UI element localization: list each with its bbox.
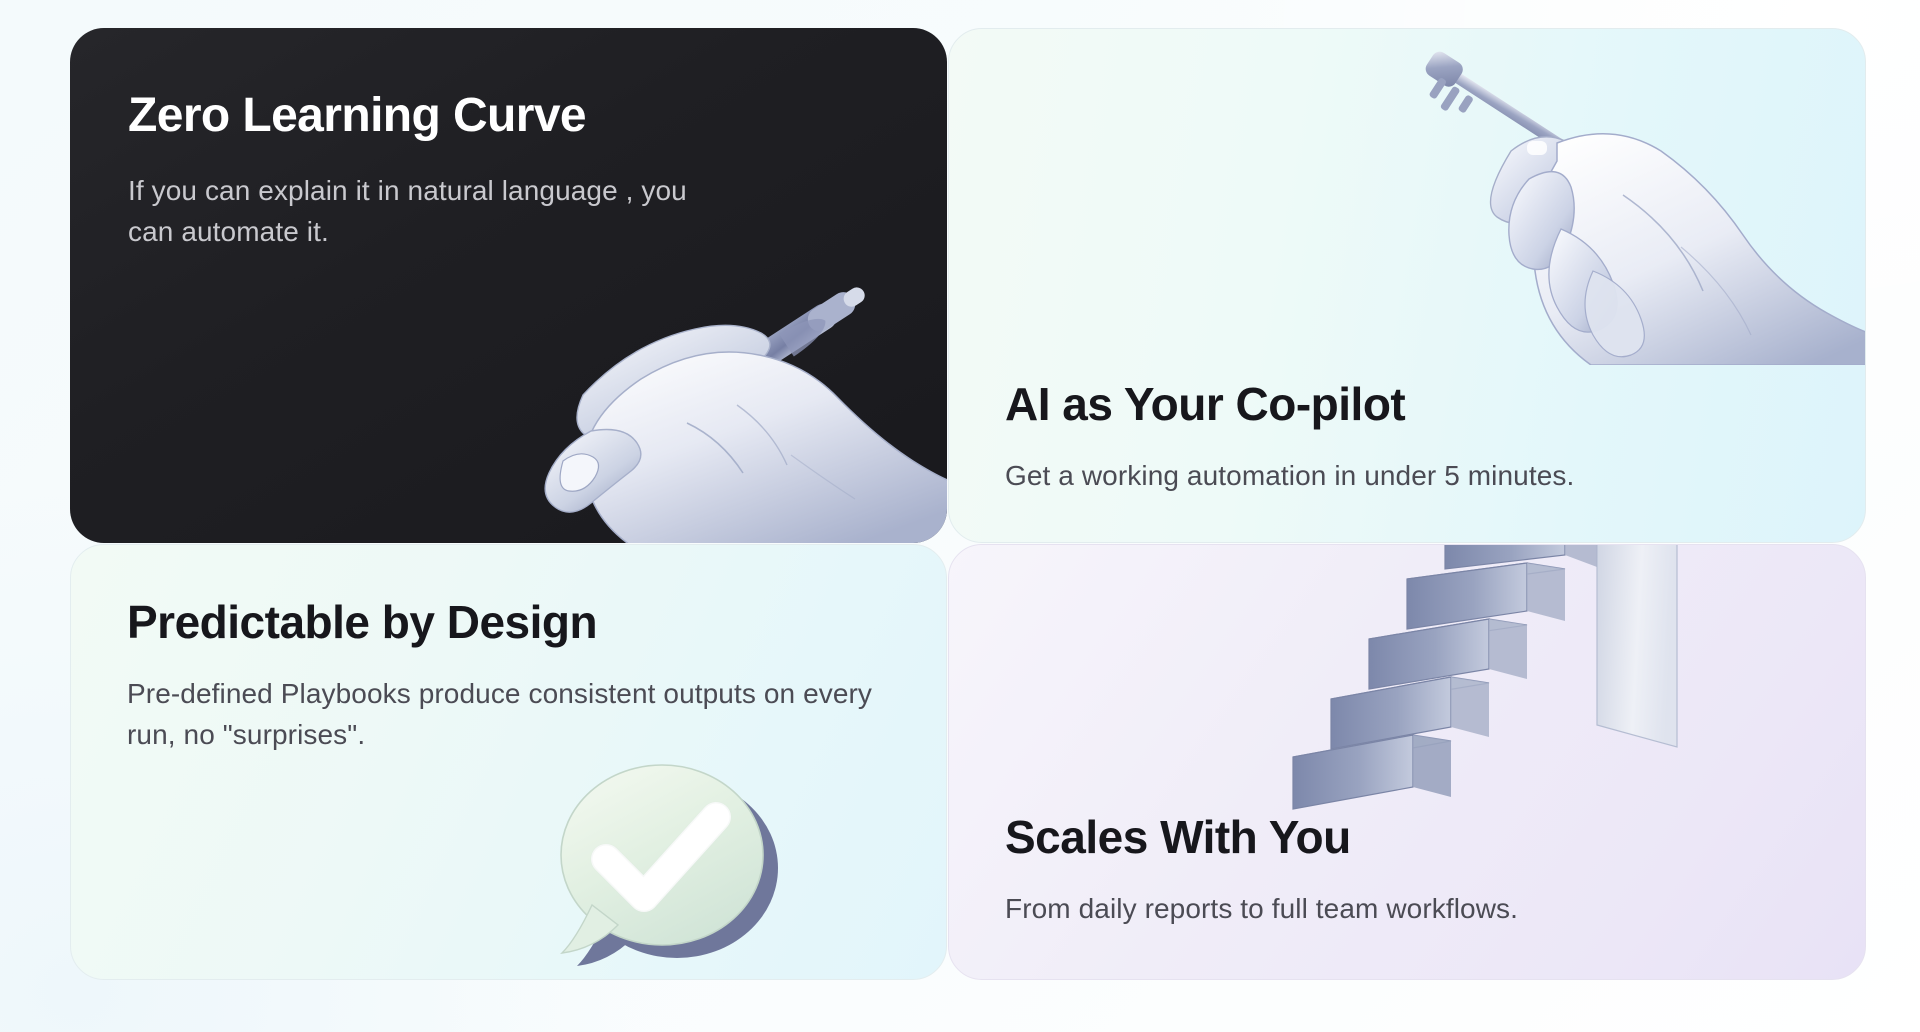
card-description: If you can explain it in natural languag… [128,170,728,253]
card-text-block: AI as Your Co-pilot Get a working automa… [1005,379,1865,496]
card-title: Scales With You [1005,812,1865,864]
card-text-block: Predictable by Design Pre-defined Playbo… [127,597,890,755]
card-description: From daily reports to full team workflow… [1005,888,1865,929]
card-title: Predictable by Design [127,597,890,649]
hand-holding-pen-icon [491,217,947,543]
staircase-icon [1245,544,1765,817]
card-description: Pre-defined Playbooks produce consistent… [127,673,890,756]
feature-card-grid: Zero Learning Curve If you can explain i… [0,0,1920,1032]
feature-card-ai-as-your-co-pilot[interactable]: AI as Your Co-pilot Get a working automa… [948,28,1866,543]
card-description: Get a working automation in under 5 minu… [1005,455,1865,496]
hand-holding-key-icon [1361,45,1866,365]
card-text-block: Scales With You From daily reports to fu… [1005,812,1865,929]
card-title: Zero Learning Curve [128,90,889,143]
feature-card-zero-learning-curve[interactable]: Zero Learning Curve If you can explain i… [70,28,947,543]
feature-card-scales-with-you[interactable]: Scales With You From daily reports to fu… [948,544,1866,980]
card-title: AI as Your Co-pilot [1005,379,1865,431]
speech-bubble-checkmark-icon [544,755,794,980]
feature-card-predictable-by-design[interactable]: Predictable by Design Pre-defined Playbo… [70,544,947,980]
card-text-block: Zero Learning Curve If you can explain i… [128,90,889,253]
